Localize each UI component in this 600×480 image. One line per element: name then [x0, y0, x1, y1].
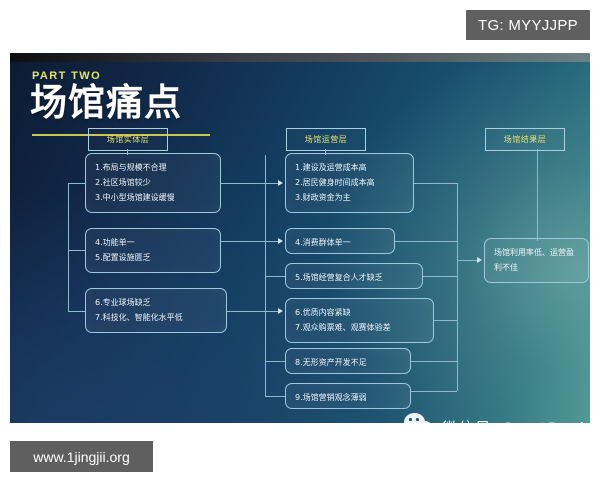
- node-line: 6.专业球场缺乏: [95, 295, 217, 310]
- node-line: 2.社区场馆较少: [95, 175, 211, 190]
- node-line: 场馆利用率低、运营盈利不佳: [494, 245, 579, 275]
- node-line: 1.建设及运营成本高: [295, 160, 404, 175]
- connector-spine-col1: [68, 183, 69, 311]
- node-operation-5: 8.无形资产开发不足: [285, 348, 411, 374]
- connector-tap-n5: [395, 241, 457, 242]
- connector-n2-to-n5: [221, 241, 278, 242]
- connector-col1-n1: [68, 183, 85, 184]
- node-line: 2.居民健身时间成本高: [295, 175, 404, 190]
- node-line: 4.功能单一: [95, 235, 211, 250]
- node-operation-1: 1.建设及运营成本高 2.居民健身时间成本高 3.财政资金为主: [285, 153, 414, 213]
- node-line: 7.观众购票难、观赛体验差: [295, 320, 424, 335]
- connector-col1-n2: [68, 250, 85, 251]
- header-stem-3: [537, 149, 538, 241]
- connector-tap-n4: [414, 183, 457, 184]
- connector-col2-n9stub: [265, 396, 285, 397]
- node-line: 3.中小型场馆建设缓慢: [95, 190, 211, 205]
- wechat-id-label: 微信号: SportBank: [442, 415, 589, 424]
- node-line: 5.场馆经营复合人才缺乏: [295, 270, 413, 285]
- connector-col2-n8stub: [265, 361, 285, 362]
- connector-tap-n6: [423, 276, 457, 277]
- arrow-to-operation-1: [278, 180, 283, 186]
- page-title: 场馆痛点: [30, 80, 182, 126]
- node-line: 5.配置设施匮乏: [95, 250, 211, 265]
- node-entity-1: 1.布局与规模不合理 2.社区场馆较少 3.中小型场馆建设缓慢: [85, 153, 221, 213]
- node-operation-6: 9.场馆营销观念薄弱: [285, 383, 411, 409]
- column-header-operation: 场馆运营层: [286, 128, 366, 151]
- presentation-slide: PART TWO 场馆痛点 场馆实体层 场馆运营层 场馆结果层 1.布局与规模不…: [10, 53, 590, 423]
- slide-screenshot: TG: MYYJJPP PART TWO 场馆痛点 场馆实体层 场馆运营层 场馆…: [0, 0, 600, 480]
- site-url-watermark: www.1jingjii.org: [10, 441, 153, 472]
- arrow-to-operation-2: [278, 238, 283, 244]
- connector-n3-to-n7: [227, 311, 278, 312]
- connector-tap-n8: [411, 361, 457, 362]
- node-operation-3: 5.场馆经营复合人才缺乏: [285, 263, 423, 289]
- wechat-icon: [404, 413, 435, 423]
- connector-tap-n9: [411, 391, 457, 392]
- node-entity-3: 6.专业球场缺乏 7.科技化、智能化水平低: [85, 288, 227, 333]
- node-line: 1.布局与规模不合理: [95, 160, 211, 175]
- telegram-watermark-tag: TG: MYYJJPP: [466, 10, 590, 40]
- node-line: 9.场馆营销观念薄弱: [295, 390, 401, 405]
- node-line: 8.无形资产开发不足: [295, 355, 401, 370]
- node-line: 4.消费群体单一: [295, 235, 385, 250]
- arrow-to-result: [477, 257, 482, 263]
- node-line: 6.优质内容紧缺: [295, 305, 424, 320]
- wechat-footer: 微信号: SportBank: [404, 413, 589, 423]
- connector-col2-n6stub: [265, 276, 285, 277]
- connector-tap-n7: [434, 320, 457, 321]
- connector-col2-collector: [457, 183, 458, 391]
- arrow-to-operation-4: [278, 308, 283, 314]
- node-operation-2: 4.消费群体单一: [285, 228, 395, 254]
- node-line: 3.财政资金为主: [295, 190, 404, 205]
- column-header-entity: 场馆实体层: [88, 128, 168, 151]
- node-operation-4: 6.优质内容紧缺 7.观众购票难、观赛体验差: [285, 298, 434, 343]
- node-result-1: 场馆利用率低、运营盈利不佳: [484, 238, 589, 283]
- node-entity-2: 4.功能单一 5.配置设施匮乏: [85, 228, 221, 273]
- connector-n1-to-n4: [221, 183, 278, 184]
- column-header-result: 场馆结果层: [485, 128, 565, 151]
- node-line: 7.科技化、智能化水平低: [95, 310, 217, 325]
- connector-col1-n3: [68, 311, 85, 312]
- connector-to-result: [457, 260, 478, 261]
